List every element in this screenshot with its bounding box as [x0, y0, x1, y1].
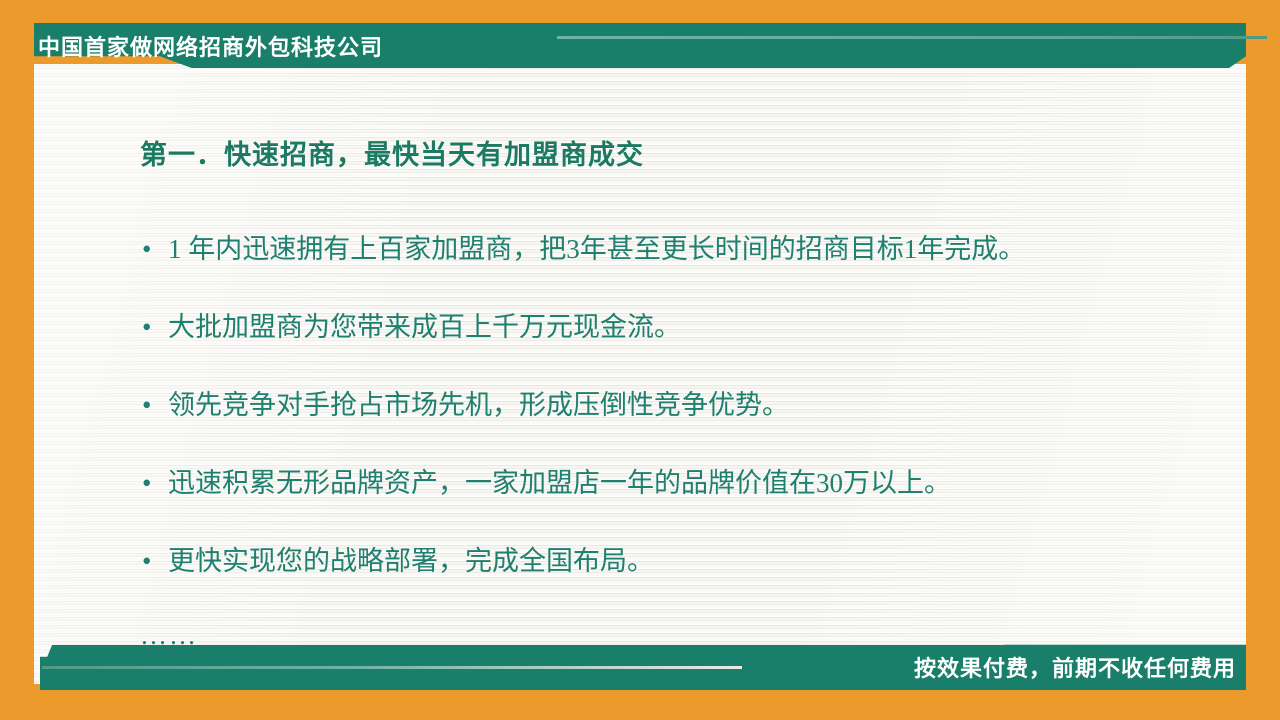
list-item-text: 1 年内迅速拥有上百家加盟商，把3年甚至更长时间的招商目标1年完成。 — [168, 232, 1217, 266]
footer-tagline: 按效果付费，前期不收任何费用 — [914, 651, 1236, 683]
list-item-text: 大批加盟商为您带来成百上千万元现金流。 — [168, 310, 1217, 344]
list-item: • 1 年内迅速拥有上百家加盟商，把3年甚至更长时间的招商目标1年完成。 — [142, 232, 1217, 310]
section-heading: 第一．快速招商，最快当天有加盟商成交 — [140, 133, 644, 172]
continuation-ellipsis: …… — [140, 620, 198, 651]
header-rule-line — [557, 36, 1267, 39]
header-title: 中国首家做网络招商外包科技公司 — [38, 30, 383, 62]
footer-rule-line — [42, 666, 742, 669]
list-item-text: 领先竞争对手抢占市场先机，形成压倒性竞争优势。 — [168, 388, 1217, 422]
bullet-point-icon: • — [142, 388, 168, 422]
bullet-point-icon: • — [142, 232, 168, 266]
list-item: • 大批加盟商为您带来成百上千万元现金流。 — [142, 310, 1217, 388]
list-item-text: 更快实现您的战略部署，完成全国布局。 — [168, 544, 1217, 578]
list-item: • 领先竞争对手抢占市场先机，形成压倒性竞争优势。 — [142, 388, 1217, 466]
list-item: • 更快实现您的战略部署，完成全国布局。 — [142, 544, 1217, 622]
bullet-point-icon: • — [142, 466, 168, 500]
slide: 中国首家做网络招商外包科技公司 第一．快速招商，最快当天有加盟商成交 • 1 年… — [0, 0, 1280, 720]
bullet-list: • 1 年内迅速拥有上百家加盟商，把3年甚至更长时间的招商目标1年完成。 • 大… — [142, 232, 1217, 622]
bullet-point-icon: • — [142, 544, 168, 578]
list-item: • 迅速积累无形品牌资产，一家加盟店一年的品牌价值在30万以上。 — [142, 466, 1217, 544]
bullet-point-icon: • — [142, 310, 168, 344]
list-item-text: 迅速积累无形品牌资产，一家加盟店一年的品牌价值在30万以上。 — [168, 466, 1217, 500]
